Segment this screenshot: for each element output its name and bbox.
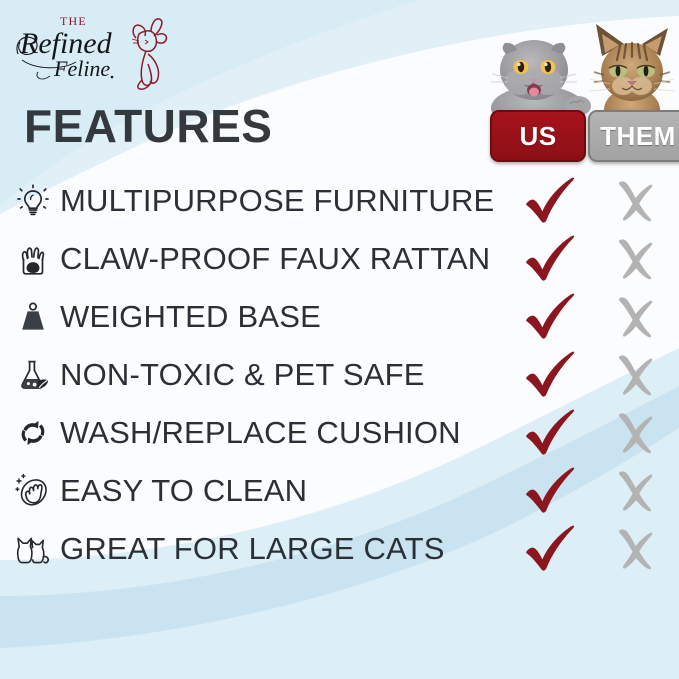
feature-row: CLAW-PROOF FAUX RATTAN bbox=[0, 230, 679, 288]
logo-cat-silhouette-icon bbox=[132, 19, 166, 89]
feature-row: WASH/REPLACE CUSHION bbox=[0, 404, 679, 462]
red-checkmark-icon bbox=[524, 408, 576, 458]
feature-label: WEIGHTED BASE bbox=[60, 299, 321, 335]
us-badge-label: US bbox=[519, 121, 556, 152]
feature-label: EASY TO CLEAN bbox=[60, 473, 307, 509]
brand-logo: THE Refined Feline bbox=[14, 8, 174, 92]
us-cat-photo bbox=[482, 26, 594, 121]
feature-row: EASY TO CLEAN bbox=[0, 462, 679, 520]
cat-paw-icon bbox=[14, 240, 52, 278]
us-badge[interactable]: US bbox=[490, 110, 586, 162]
red-checkmark-icon bbox=[524, 234, 576, 284]
page-title: FEATURES bbox=[24, 100, 273, 152]
feature-label: CLAW-PROOF FAUX RATTAN bbox=[60, 241, 490, 277]
flask-leaf-icon bbox=[14, 356, 52, 394]
two-cats-icon bbox=[14, 530, 52, 568]
gray-x-icon bbox=[612, 469, 658, 513]
lightbulb-icon bbox=[14, 182, 52, 220]
compare-header: US THEM bbox=[482, 18, 679, 150]
feature-label: GREAT FOR LARGE CATS bbox=[60, 531, 445, 567]
wiping-hand-sparkle-icon bbox=[14, 472, 52, 510]
them-badge-label: THEM bbox=[600, 121, 676, 152]
gray-x-icon bbox=[612, 237, 658, 281]
them-badge[interactable]: THEM bbox=[588, 110, 679, 162]
features-list: MULTIPURPOSE FURNITURE CLAW-PROOF bbox=[0, 172, 679, 578]
gray-x-icon bbox=[612, 179, 658, 223]
recycle-icon bbox=[14, 414, 52, 452]
gray-x-icon bbox=[612, 353, 658, 397]
red-checkmark-icon bbox=[524, 292, 576, 342]
red-checkmark-icon bbox=[524, 466, 576, 516]
logo-the-text: THE bbox=[60, 14, 87, 28]
red-checkmark-icon bbox=[524, 524, 576, 574]
feature-row: GREAT FOR LARGE CATS bbox=[0, 520, 679, 578]
feature-row: WEIGHTED BASE bbox=[0, 288, 679, 346]
weight-icon bbox=[14, 298, 52, 336]
logo-feline-text: Feline bbox=[53, 56, 110, 81]
red-checkmark-icon bbox=[524, 176, 576, 226]
gray-x-icon bbox=[612, 527, 658, 571]
feature-comparison-graphic: THE Refined Feline bbox=[0, 0, 679, 679]
gray-x-icon bbox=[612, 411, 658, 455]
red-checkmark-icon bbox=[524, 350, 576, 400]
feature-label: WASH/REPLACE CUSHION bbox=[60, 415, 461, 451]
them-cat-photo bbox=[586, 20, 678, 122]
feature-row: NON-TOXIC & PET SAFE bbox=[0, 346, 679, 404]
feature-row: MULTIPURPOSE FURNITURE bbox=[0, 172, 679, 230]
feature-label: NON-TOXIC & PET SAFE bbox=[60, 357, 425, 393]
feature-label: MULTIPURPOSE FURNITURE bbox=[60, 183, 494, 219]
gray-x-icon bbox=[612, 295, 658, 339]
